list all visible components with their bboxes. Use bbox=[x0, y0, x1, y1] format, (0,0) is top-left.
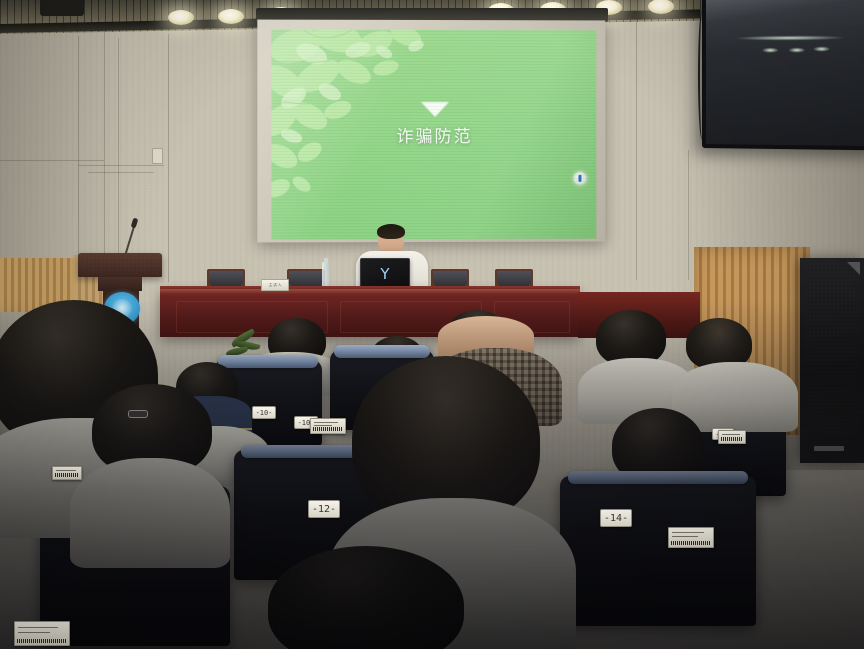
seat-number-text: -14- bbox=[604, 513, 628, 524]
tv-reflection bbox=[734, 35, 847, 41]
tv-light-reflection bbox=[813, 46, 830, 51]
seat-number-plate: -12- bbox=[308, 500, 340, 518]
triangle-down-icon bbox=[420, 102, 448, 117]
podium-texture bbox=[83, 256, 157, 274]
lecture-hall-photo: 诈骗防范 Y bbox=[0, 0, 864, 649]
asset-tag-barcode bbox=[55, 473, 79, 477]
slide-title-block: 诈骗防范 bbox=[271, 102, 596, 147]
asset-tag-sticker bbox=[718, 430, 746, 444]
laser-pointer-dot-icon bbox=[574, 172, 587, 185]
asset-tag-line bbox=[314, 422, 338, 423]
asset-tag-sticker bbox=[52, 466, 82, 480]
wall-seam bbox=[168, 34, 169, 282]
seat-number-text: -10- bbox=[256, 409, 273, 417]
audience-area bbox=[0, 300, 864, 649]
ceiling-light bbox=[168, 10, 194, 25]
asset-tag-barcode bbox=[313, 427, 343, 431]
asset-tag-barcode bbox=[671, 541, 711, 545]
ceiling-projector bbox=[40, 0, 84, 16]
tv-screen bbox=[706, 0, 864, 146]
asset-tag-line bbox=[56, 470, 76, 471]
seat-number-text: -12- bbox=[312, 504, 336, 515]
tv-light-reflection bbox=[762, 48, 778, 53]
asset-tag-line bbox=[18, 627, 58, 628]
laptop-logo: Y bbox=[380, 267, 389, 282]
podium-neck bbox=[98, 277, 142, 291]
speaker-name-card: 主 讲 人 bbox=[261, 279, 289, 291]
asset-tag-line bbox=[314, 425, 332, 426]
slide-title: 诈骗防范 bbox=[271, 122, 596, 147]
wall-mounted-tv[interactable] bbox=[702, 0, 864, 150]
presenter-hair bbox=[377, 224, 405, 239]
asset-tag-line bbox=[722, 434, 740, 435]
wall-switch-plate bbox=[152, 148, 163, 164]
asset-tag-sticker bbox=[14, 621, 70, 646]
speaker-bracket bbox=[847, 262, 860, 275]
ceiling-light bbox=[218, 9, 244, 24]
tv-light-reflection bbox=[789, 48, 805, 53]
asset-tag-sticker bbox=[310, 418, 346, 434]
projector-screen-frame: 诈骗防范 bbox=[257, 20, 605, 243]
podium-top bbox=[78, 253, 162, 277]
audience-shading bbox=[0, 300, 864, 649]
asset-tag-barcode bbox=[721, 437, 743, 441]
stage-table-edge bbox=[160, 289, 580, 294]
wall-seam bbox=[636, 20, 637, 280]
seat-number-plate: -14- bbox=[600, 509, 632, 527]
seat-number-plate: -10- bbox=[252, 406, 276, 419]
asset-tag-line bbox=[18, 632, 50, 633]
asset-tag-sticker bbox=[668, 527, 714, 548]
speaker-name-card-text: 主 讲 人 bbox=[269, 282, 282, 287]
asset-tag-line bbox=[672, 536, 698, 537]
projected-slide: 诈骗防范 bbox=[271, 30, 596, 240]
asset-tag-line bbox=[672, 532, 704, 533]
asset-tag-barcode bbox=[17, 639, 67, 643]
